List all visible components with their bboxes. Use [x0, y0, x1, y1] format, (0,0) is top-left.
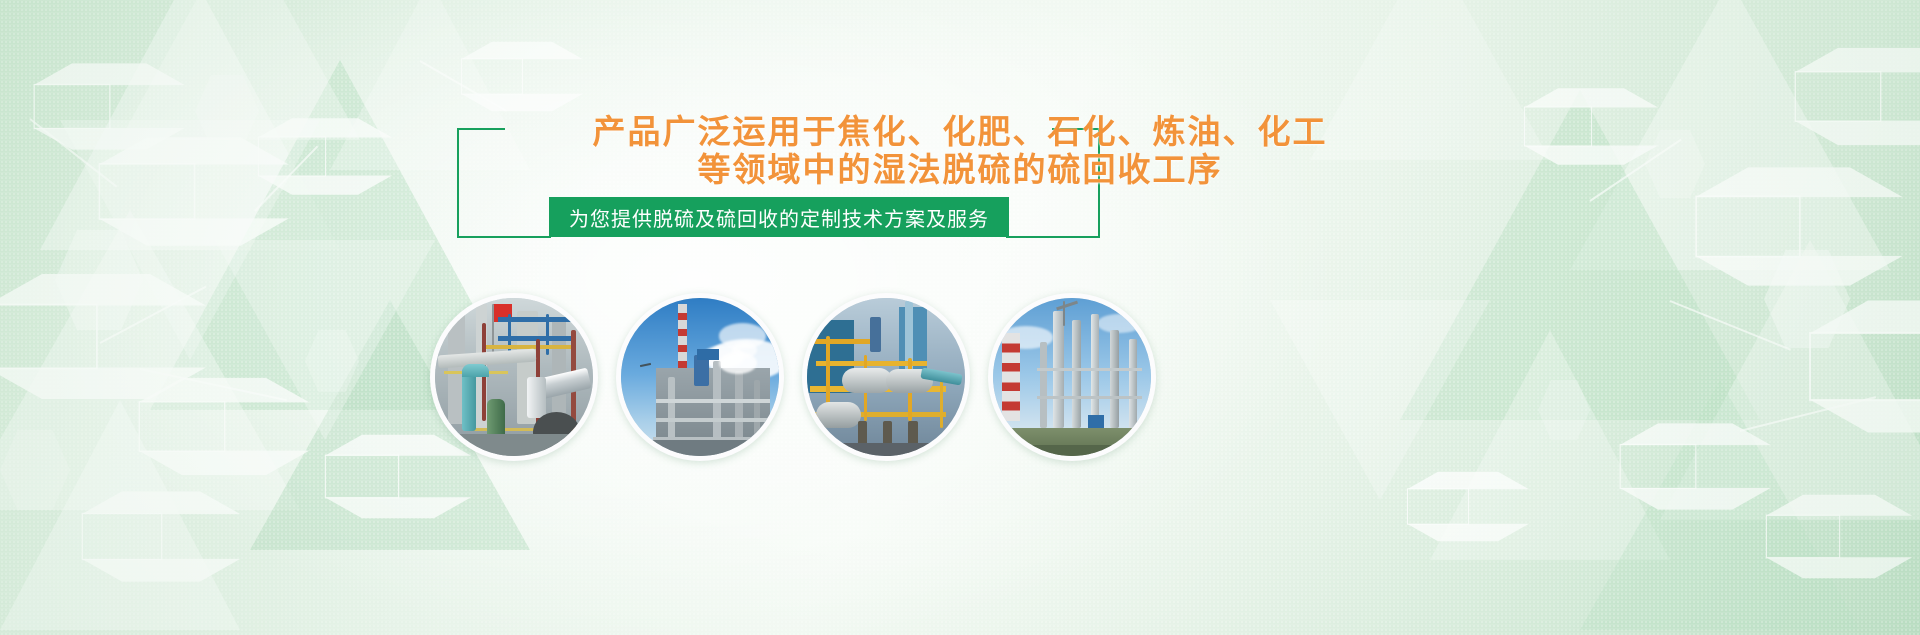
photo-row: [0, 0, 1920, 635]
photo-refinery-stack[interactable]: [616, 293, 784, 461]
photo-sulfur-unit[interactable]: [802, 293, 970, 461]
photo-coking-plant[interactable]: [430, 293, 598, 461]
photo-chemical-tower[interactable]: [988, 293, 1156, 461]
promo-banner: 产品广泛运用于焦化、化肥、石化、炼油、化工 等领域中的湿法脱硫的硫回收工序 为您…: [0, 0, 1920, 635]
